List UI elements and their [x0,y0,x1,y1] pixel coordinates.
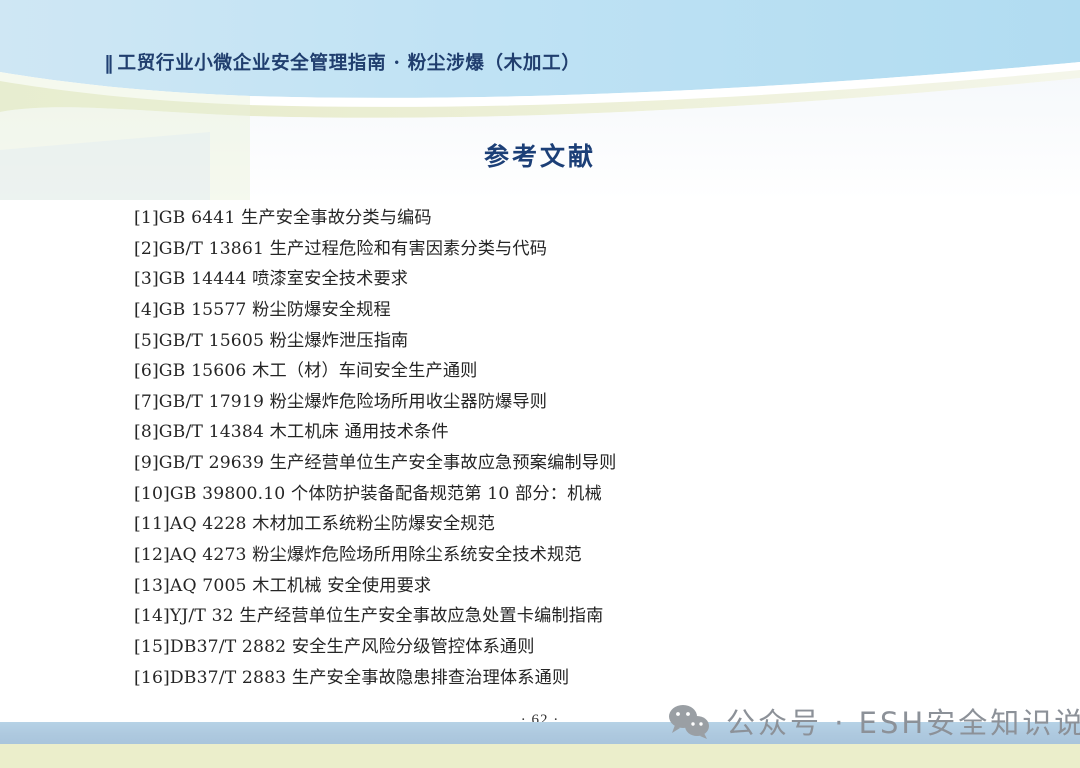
reference-item: [10]GB 39800.10 个体防护装备配备规范第 10 部分：机械 [134,479,954,510]
reference-item: [1]GB 6441 生产安全事故分类与编码 [134,203,954,234]
reference-item: [13]AQ 7005 木工机械 安全使用要求 [134,571,954,602]
reference-item: [15]DB37/T 2882 安全生产风险分级管控体系通则 [134,632,954,663]
reference-item: [6]GB 15606 木工（材）车间安全生产通则 [134,356,954,387]
reference-item: [4]GB 15577 粉尘防爆安全规程 [134,295,954,326]
reference-item: [14]YJ/T 32 生产经营单位生产安全事故应急处置卡编制指南 [134,601,954,632]
page-title: 参考文献 [0,137,1080,173]
reference-item: [7]GB/T 17919 粉尘爆炸危险场所用收尘器防爆导则 [134,387,954,418]
document-page: ‖ 工贸行业小微企业安全管理指南 · 粉尘涉爆（木加工） 参考文献 [1]GB … [0,0,1080,768]
wechat-logo-icon [666,701,716,741]
reference-item: [3]GB 14444 喷漆室安全技术要求 [134,264,954,295]
reference-item: [5]GB/T 15605 粉尘爆炸泄压指南 [134,326,954,357]
footer-green-band [0,744,1080,768]
reference-item: [2]GB/T 13861 生产过程危险和有害因素分类与代码 [134,234,954,265]
running-head-text: 工贸行业小微企业安全管理指南 · 粉尘涉爆（木加工） [118,49,581,75]
reference-item: [12]AQ 4273 粉尘爆炸危险场所用除尘系统安全技术规范 [134,540,954,571]
running-head: ‖ 工贸行业小微企业安全管理指南 · 粉尘涉爆（木加工） [104,49,581,75]
double-bar-icon: ‖ [104,54,113,73]
reference-item: [8]GB/T 14384 木工机床 通用技术条件 [134,417,954,448]
reference-item: [9]GB/T 29639 生产经营单位生产安全事故应急预案编制导则 [134,448,954,479]
reference-item: [11]AQ 4228 木材加工系统粉尘防爆安全规范 [134,509,954,540]
watermark: 公众号 · ESH安全知识说 [666,700,1080,742]
reference-item: [16]DB37/T 2883 生产安全事故隐患排查治理体系通则 [134,663,954,694]
reference-list: [1]GB 6441 生产安全事故分类与编码 [2]GB/T 13861 生产过… [134,203,954,693]
watermark-text: 公众号 · ESH安全知识说 [726,700,1080,742]
